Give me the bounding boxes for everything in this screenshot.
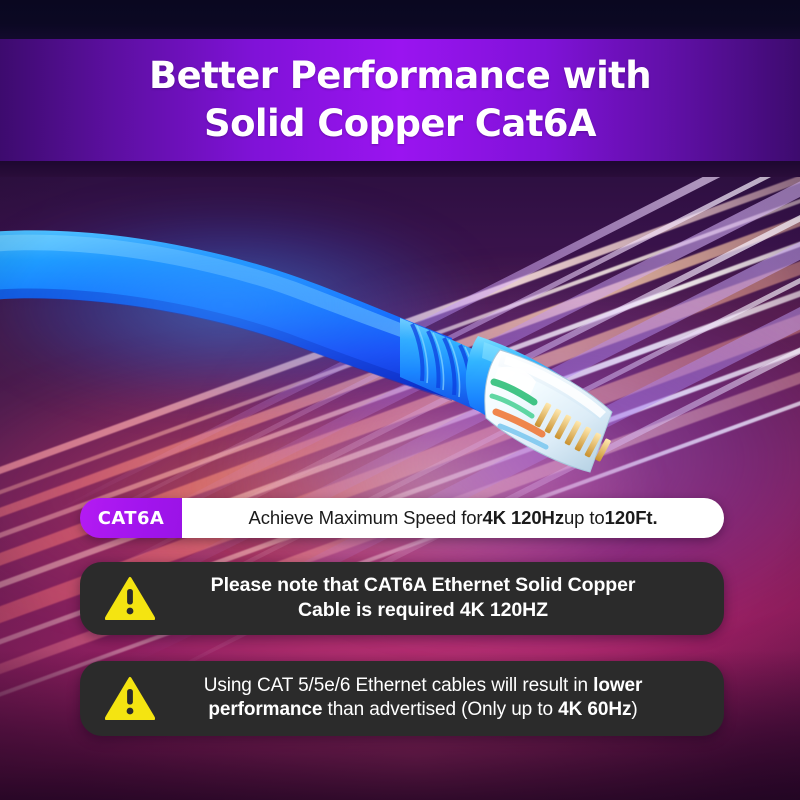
note-requirement-line-2: Cable is required 4K 120HZ: [166, 598, 680, 623]
feature-rows: CAT6A Achieve Maximum Speed for 4K 120Hz…: [80, 498, 724, 736]
speed-text-mid: up to: [564, 507, 605, 529]
note-warning-text: Using CAT 5/5e/6 Ethernet cables will re…: [160, 674, 706, 722]
speed-text-bold-2: 120Ft.: [605, 507, 658, 529]
note-warning-seg-3: than advertised (Only up to: [322, 699, 558, 720]
note-row-requirement: Please note that CAT6A Ethernet Solid Co…: [80, 562, 724, 635]
note-warning-seg-1: Using CAT 5/5e/6 Ethernet cables will re…: [204, 675, 593, 696]
note-warning-seg-5: ): [631, 699, 637, 720]
top-dark-strip: [0, 0, 800, 39]
speed-statement: Achieve Maximum Speed for 4K 120Hz up to…: [182, 498, 724, 538]
note-requirement-line-1: Please note that CAT6A Ethernet Solid Co…: [166, 573, 680, 598]
warning-triangle-icon: [100, 676, 160, 720]
note-requirement-text: Please note that CAT6A Ethernet Solid Co…: [160, 573, 706, 622]
speed-text-prefix: Achieve Maximum Speed for: [249, 507, 483, 529]
note-warning-seg-4: 4K 60Hz: [558, 699, 631, 720]
speed-callout-row: CAT6A Achieve Maximum Speed for 4K 120Hz…: [80, 498, 724, 538]
cat6a-badge: CAT6A: [80, 498, 182, 538]
note-row-warning: Using CAT 5/5e/6 Ethernet cables will re…: [80, 661, 724, 736]
warning-triangle-icon: [100, 576, 160, 620]
speed-text-bold-1: 4K 120Hz: [483, 507, 564, 529]
page-title-line-1: Better Performance with: [149, 52, 651, 100]
promo-graphic: Better Performance with Solid Copper Cat…: [0, 0, 800, 800]
header-banner: Better Performance with Solid Copper Cat…: [0, 39, 800, 161]
page-title-line-2: Solid Copper Cat6A: [204, 100, 596, 148]
